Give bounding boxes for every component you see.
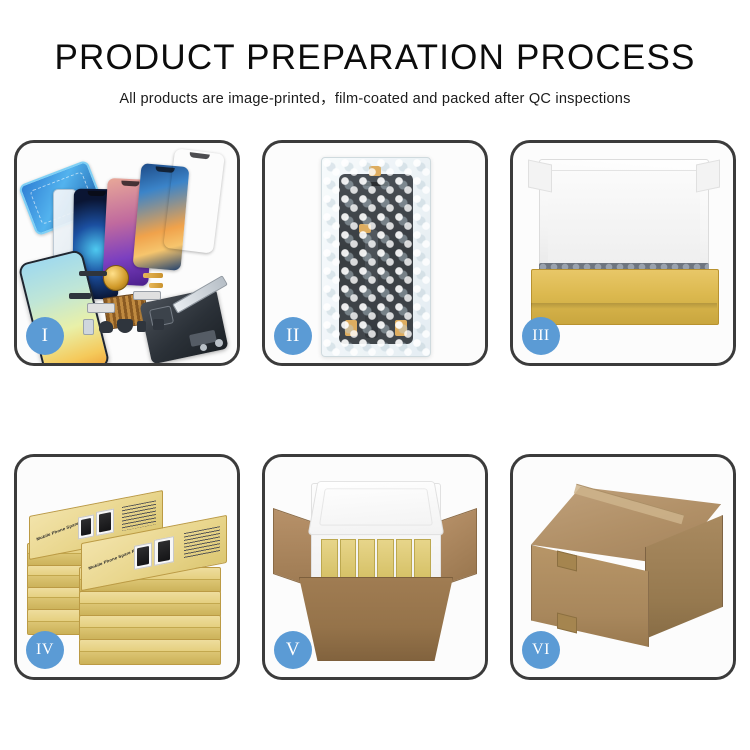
inner-box-column (414, 539, 431, 583)
inner-box-column (396, 539, 413, 583)
stacked-box (79, 591, 221, 617)
step-badge-4: IV (26, 631, 64, 669)
process-steps-grid: I II (14, 140, 736, 688)
step-panel-3: III (510, 140, 736, 366)
chip-icon (153, 319, 164, 330)
foam-lid-icon (539, 159, 709, 279)
step-badge-1: I (26, 317, 64, 355)
stacked-box (79, 615, 221, 641)
antenna-part-icon (69, 293, 91, 299)
ribbon-cable-icon (133, 291, 161, 300)
bubble-wrap-bag-icon (321, 157, 431, 357)
bubble-texture-icon (322, 158, 430, 356)
label-window-1 (78, 514, 94, 539)
inner-box-column (377, 539, 394, 583)
step-panel-4: Mobile Phone Spare Parts Mobile Phone Sp… (14, 454, 240, 680)
button-part-icon (137, 321, 146, 332)
inner-box-column (340, 539, 357, 583)
step-badge-3: III (522, 317, 560, 355)
header: PRODUCT PREPARATION PROCESS All products… (0, 36, 750, 108)
screw-icon-2 (200, 344, 207, 351)
sim-tray-icon (83, 319, 94, 335)
lid-tab-right (696, 159, 720, 192)
step-panel-1: I (14, 140, 240, 366)
inner-box-base-icon (531, 269, 719, 325)
step-badge-5: V (274, 631, 312, 669)
label-window-2 (154, 536, 174, 566)
camera-module-icon (117, 319, 133, 333)
vibration-motor-icon (103, 265, 129, 291)
label-spec-lines (122, 500, 156, 531)
speaker-icon (99, 321, 113, 333)
page-title: PRODUCT PREPARATION PROCESS (0, 36, 750, 80)
gold-bracket-icon (149, 283, 163, 288)
inner-box-column (358, 539, 375, 583)
phone-icon-5 (163, 148, 225, 253)
inner-boxes-in-carton (321, 539, 431, 583)
gold-connector-icon (143, 273, 163, 278)
label-window-2 (96, 509, 114, 536)
stacked-box (79, 639, 221, 665)
label-spec-lines (184, 526, 220, 559)
label-window-1 (134, 542, 152, 569)
box-edge-shadow (531, 303, 717, 309)
step-panel-2: II (262, 140, 488, 366)
step-panel-6: VI (510, 454, 736, 680)
carton-body-icon (299, 577, 453, 661)
lid-tab-left (528, 159, 552, 192)
flex-cable-icon (87, 303, 115, 313)
page-subtitle: All products are image-printed，film-coat… (0, 87, 750, 108)
foam-lid-open-icon (308, 481, 445, 535)
box-stack-icon: Mobile Phone Spare Parts Mobile Phone Sp… (27, 481, 231, 661)
screw-icon (215, 339, 223, 347)
product-preparation-infographic: PRODUCT PREPARATION PROCESS All products… (0, 0, 750, 750)
small-part-icon (79, 271, 107, 276)
step-panel-5: V (262, 454, 488, 680)
step-badge-2: II (274, 317, 312, 355)
inner-box-column (321, 539, 338, 583)
step-badge-6: VI (522, 631, 560, 669)
